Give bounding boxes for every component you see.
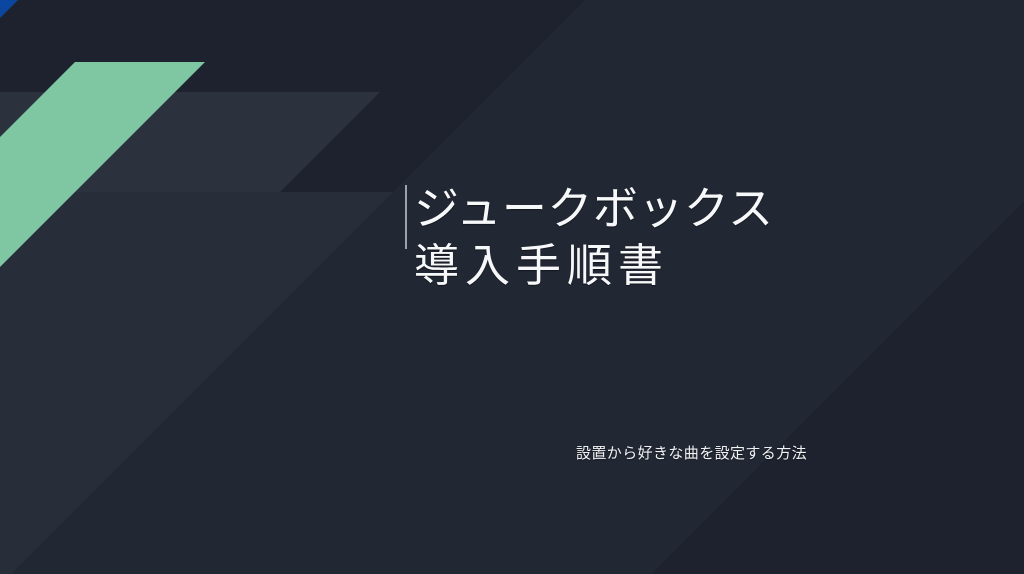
- title-slide: ジュークボックス導入手順書 設置から好きな曲を設定する方法: [0, 0, 1024, 574]
- page-title-line-2: 導入手順書: [414, 237, 965, 294]
- page-title: ジュークボックス導入手順書: [405, 180, 965, 294]
- page-title-line-1: ジュークボックス: [414, 183, 774, 234]
- title-placeholder[interactable]: ジュークボックス導入手順書: [405, 180, 965, 294]
- slide-subtitle: 設置から好きな曲を設定する方法: [576, 443, 807, 464]
- text-cursor: [405, 185, 407, 249]
